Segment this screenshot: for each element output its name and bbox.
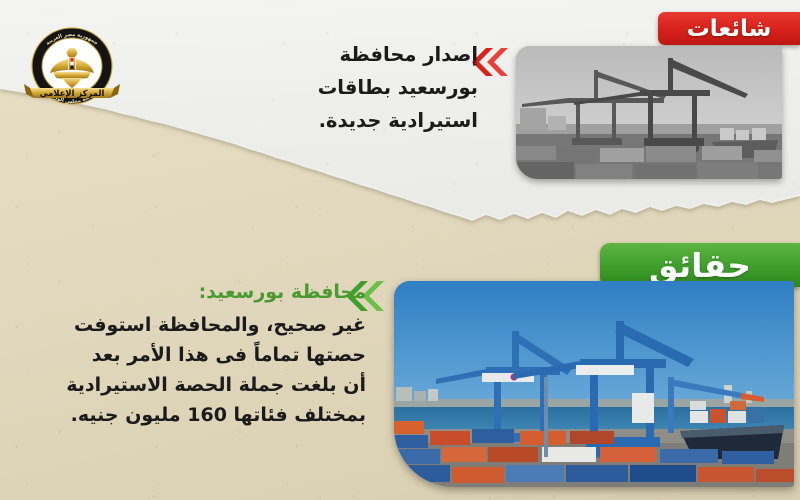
logo-banner-text: المركز الإعلامي [40,88,105,99]
fact-source-label: محافظة بورسعيد: [66,278,366,306]
egypt-cabinet-media-center-logo: جمهورية مصر العربية رئاسة مجلس الوزراء ا… [22,20,122,112]
fact-port-photo [394,281,794,487]
fact-statement-text: غير صحيح، والمحافظة استوفت حصتها تماماً … [66,310,366,430]
infographic-canvas: جمهورية مصر العربية رئاسة مجلس الوزراء ا… [0,0,800,500]
rumor-statement-text: إصدار محافظة بورسعيد بطاقات استيرادية جد… [288,38,478,137]
fact-text-block: محافظة بورسعيد: غير صحيح، والمحافظة استو… [66,278,366,430]
rumor-banner: شائعات [658,12,800,45]
rumor-port-photo [516,46,782,179]
